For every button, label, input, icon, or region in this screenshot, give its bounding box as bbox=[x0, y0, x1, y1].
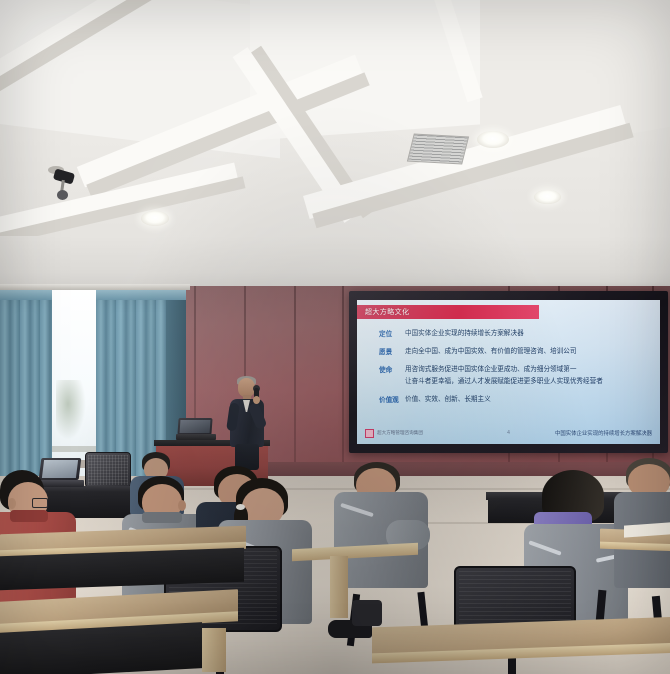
recessed-downlight bbox=[141, 211, 169, 226]
curtain-rod bbox=[0, 284, 190, 290]
slide-row-value-line1: 用咨询式服务促进中国实体企业更成功、成为细分领域第一 bbox=[405, 366, 576, 373]
slide-footer: 超大方略管理咨询集团 4 中国实体企业实现的持续增长方案解决器 bbox=[357, 426, 660, 440]
slide-row-key: 使命 bbox=[379, 364, 405, 374]
slide-row-key: 定位 bbox=[379, 328, 405, 338]
screen-surface: 超大方略文化 定位 中国实体企业实现的持续增长方案解决器 愿景 走向全中国、成为… bbox=[357, 300, 660, 444]
hair-tie bbox=[236, 504, 245, 510]
slide-row-key: 价值观 bbox=[379, 394, 405, 404]
recessed-downlight bbox=[534, 190, 561, 204]
attendee-leg bbox=[352, 600, 382, 626]
slide-row-value-line2: 让奋斗者更幸福，通过人才发展赋能促进更多职业人实现优秀经营者 bbox=[405, 376, 603, 387]
desk-edge bbox=[600, 542, 670, 552]
hvac-vent bbox=[407, 134, 469, 165]
attendee-collar bbox=[10, 510, 48, 522]
slide-banner-title: 超大方略文化 bbox=[357, 307, 409, 317]
desk-leg bbox=[330, 556, 348, 618]
desk-edge bbox=[292, 543, 418, 562]
recessed-downlight bbox=[477, 131, 509, 148]
attendee-collar bbox=[142, 512, 182, 523]
slide-row: 价值观 价值、实效、创新、长期主义 bbox=[379, 394, 651, 405]
slide-row: 愿景 走向全中国、成为中国实效、有价值的管理咨询、培训公司 bbox=[379, 346, 651, 357]
slide-row-value: 用咨询式服务促进中国实体企业更成功、成为细分领域第一 让奋斗者更幸福，通过人才发… bbox=[405, 364, 603, 386]
slide-row: 使命 用咨询式服务促进中国实体企业更成功、成为细分领域第一 让奋斗者更幸福，通过… bbox=[379, 364, 651, 386]
projector-lens bbox=[57, 190, 68, 200]
podium-laptop-screen bbox=[180, 420, 211, 433]
desk-leg bbox=[202, 628, 226, 672]
glasses-icon bbox=[32, 498, 48, 508]
desk-front-panel bbox=[0, 548, 244, 591]
ceiling-beam-shadow bbox=[312, 123, 633, 228]
wooden-desk bbox=[600, 530, 670, 590]
slide-row: 定位 中国实体企业实现的持续增长方案解决器 bbox=[379, 328, 651, 339]
slide-footer-tagline: 中国实体企业实现的持续增长方案解决器 bbox=[555, 429, 652, 437]
projection-screen: 超大方略文化 定位 中国实体企业实现的持续增长方案解决器 愿景 走向全中国、成为… bbox=[349, 291, 668, 453]
slide-banner: 超大方略文化 bbox=[357, 305, 539, 319]
window-foliage bbox=[56, 380, 86, 440]
wooden-desk bbox=[372, 622, 670, 674]
ceiling-projector-mount bbox=[42, 166, 82, 208]
slide-row-value: 价值、实效、创新、长期主义 bbox=[405, 394, 491, 405]
wooden-desk bbox=[0, 596, 240, 674]
slide-body: 定位 中国实体企业实现的持续增长方案解决器 愿景 走向全中国、成为中国实效、有价… bbox=[379, 328, 651, 412]
wooden-desk bbox=[0, 530, 250, 590]
presenter-hand bbox=[253, 396, 260, 404]
conference-room-photo: 超大方略文化 定位 中国实体企业实现的持续增长方案解决器 愿景 走向全中国、成为… bbox=[0, 0, 670, 674]
slide-row-value: 中国实体企业实现的持续增长方案解决器 bbox=[405, 328, 524, 339]
presenter bbox=[228, 378, 270, 470]
attendee-ear bbox=[178, 500, 186, 511]
podium-laptop-base bbox=[176, 434, 216, 440]
slide-row-key: 愿景 bbox=[379, 346, 405, 356]
slide-row-value: 走向全中国、成为中国实效、有价值的管理咨询、培训公司 bbox=[405, 346, 576, 357]
attendee-ear bbox=[8, 498, 16, 509]
